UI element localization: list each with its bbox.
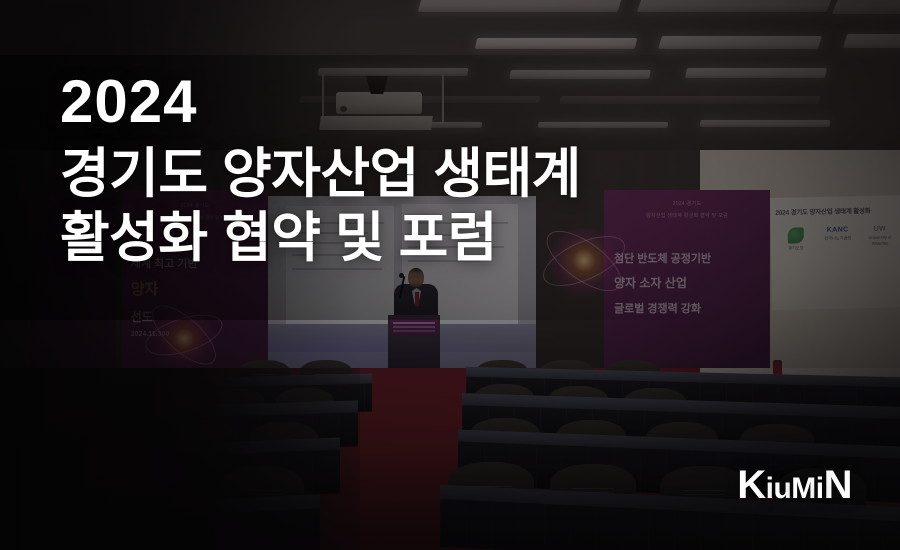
brand-letter-u: u <box>773 472 791 506</box>
headline-block: 2024 경기도 양자산업 생태계 활성화 협약 및 포럼 <box>60 72 581 269</box>
brand-letter-m: M <box>791 472 816 506</box>
screenshot-root: 2024 경기도 양자산업 생태계 활성화 협약 및 포럼 세계 최고 기반 양… <box>0 0 900 550</box>
kiumin-logo: K i u M i N <box>737 463 852 508</box>
text-overlay: 2024 경기도 양자산업 생태계 활성화 협약 및 포럼 K i u M i … <box>0 0 900 550</box>
brand-letter-i2: i <box>816 472 824 506</box>
headline-year: 2024 <box>60 72 581 132</box>
brand-letter-n: N <box>824 463 852 508</box>
headline-line-2: 경기도 양자산업 생태계 <box>60 144 581 204</box>
brand-letter-k: K <box>737 463 765 508</box>
headline-line-3: 활성화 협약 및 포럼 <box>60 208 581 268</box>
